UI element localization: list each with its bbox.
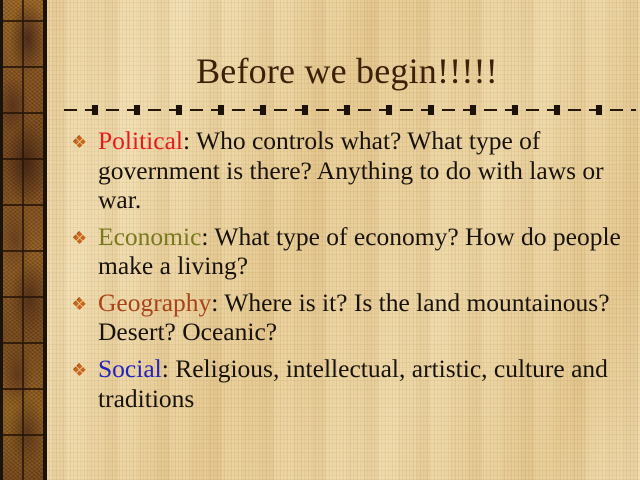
list-item-text: Social: Religious, intellectual, artisti… (98, 354, 632, 413)
bullet-list: ❖ Political: Who controls what? What typ… (72, 126, 632, 420)
list-item-body: Religious, intellectual, artistic, cultu… (98, 354, 608, 413)
list-item-text: Economic: What type of economy? How do p… (98, 222, 632, 281)
list-item-separator: : (183, 126, 196, 155)
slide-title: Before we begin!!!!! (60, 52, 634, 92)
list-item: ❖ Economic: What type of economy? How do… (72, 222, 632, 281)
decorative-left-border (0, 0, 47, 480)
list-item-keyword: Political (98, 126, 183, 155)
star-bullet-icon: ❖ (72, 288, 98, 313)
list-item-keyword: Economic (98, 222, 201, 251)
list-item-separator: : (201, 222, 214, 251)
star-bullet-icon: ❖ (72, 354, 98, 379)
star-bullet-icon: ❖ (72, 222, 98, 247)
title-divider-rule (64, 105, 636, 115)
list-item: ❖ Social: Religious, intellectual, artis… (72, 354, 632, 413)
list-item: ❖ Geography: Where is it? Is the land mo… (72, 288, 632, 347)
list-item-keyword: Geography (98, 288, 211, 317)
list-item-text: Geography: Where is it? Is the land moun… (98, 288, 632, 347)
list-item-text: Political: Who controls what? What type … (98, 126, 632, 215)
star-bullet-icon: ❖ (72, 126, 98, 151)
list-item-separator: : (211, 288, 224, 317)
presentation-slide: Before we begin!!!!! ❖ Political: Who co… (0, 0, 640, 480)
list-item: ❖ Political: Who controls what? What typ… (72, 126, 632, 215)
list-item-keyword: Social (98, 354, 162, 383)
list-item-separator: : (162, 354, 175, 383)
divider-dots (64, 105, 636, 115)
